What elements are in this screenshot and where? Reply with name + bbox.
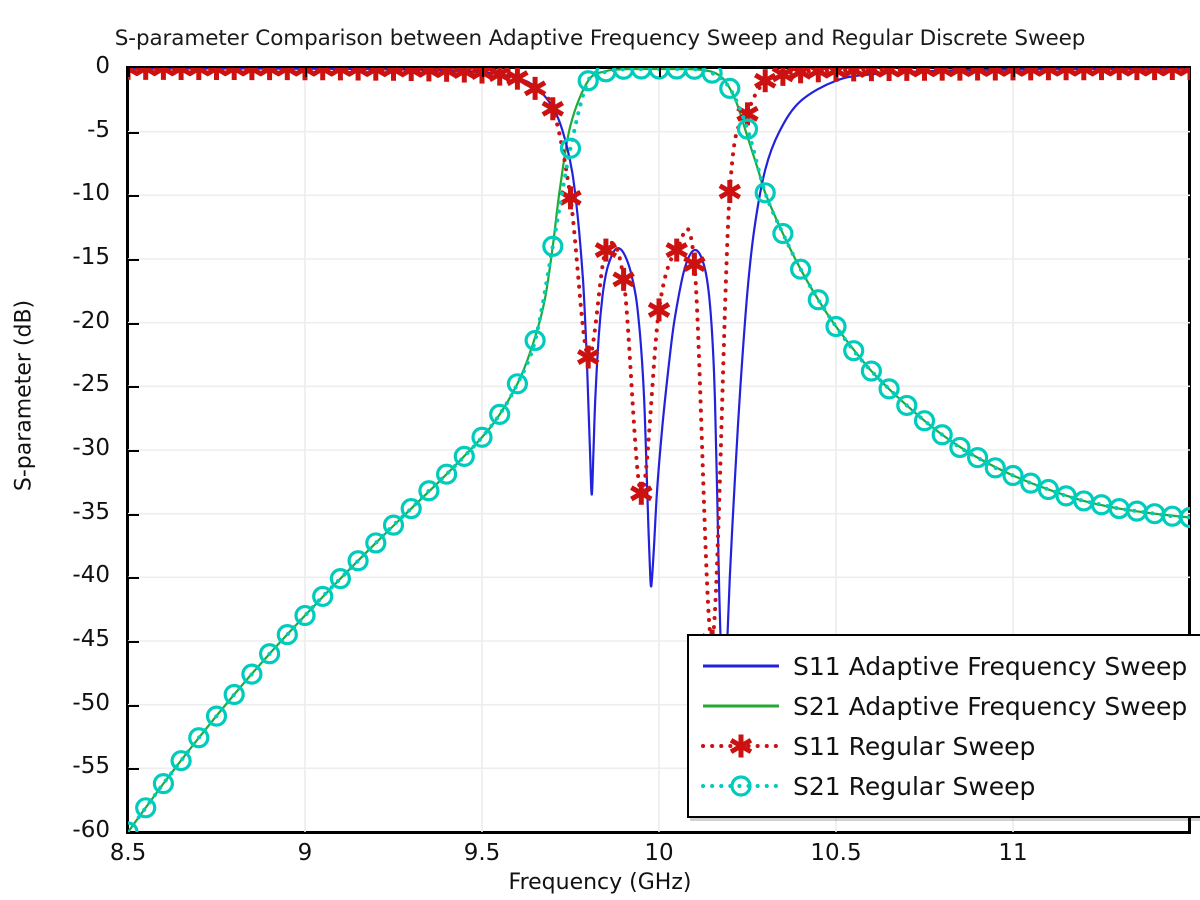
legend-swatch-s11_adaptive (701, 652, 781, 680)
y-tick-mark (128, 705, 139, 707)
y-tick-label: -40 (0, 562, 110, 588)
data-point-marker (171, 68, 191, 80)
y-tick-mark (128, 259, 139, 261)
legend: S11 Adaptive Frequency SweepS21 Adaptive… (687, 634, 1200, 818)
x-tick-label: 9 (245, 840, 365, 866)
y-tick-mark (128, 132, 139, 134)
data-point-marker (773, 68, 793, 86)
data-point-marker (808, 68, 828, 82)
data-point-marker (1145, 68, 1165, 80)
data-point-marker (791, 68, 811, 83)
y-tick-label: -50 (0, 690, 110, 716)
data-point-marker (242, 68, 262, 80)
data-point-marker (490, 68, 510, 86)
x-tick-label: 8.5 (68, 840, 188, 866)
data-point-marker (189, 68, 209, 80)
data-point-marker (543, 97, 563, 120)
x-tick-mark (305, 66, 307, 77)
legend-item-s11_regular[interactable]: S11 Regular Sweep (701, 726, 1187, 766)
legend-swatch-s11_regular (701, 732, 781, 760)
data-point-marker (525, 77, 545, 100)
y-tick-mark (128, 577, 139, 579)
data-point-marker (1162, 68, 1182, 80)
x-axis-label: Frequency (GHz) (0, 870, 1200, 895)
x-tick-mark (659, 66, 661, 77)
data-point-marker (649, 298, 669, 321)
x-tick-mark (836, 66, 838, 77)
data-point-marker (507, 68, 527, 90)
data-point-marker (153, 68, 173, 80)
data-point-marker (755, 69, 775, 92)
chart-title: S-parameter Comparison between Adaptive … (0, 26, 1200, 51)
x-tick-label: 10 (599, 840, 719, 866)
chart-root: S-parameter Comparison between Adaptive … (0, 0, 1200, 900)
y-tick-label: -35 (0, 499, 110, 525)
data-point-marker (260, 68, 280, 80)
legend-swatch-s21_regular (701, 772, 781, 800)
y-tick-mark (128, 386, 139, 388)
y-tick-label: -25 (0, 371, 110, 397)
data-point-marker (1109, 68, 1129, 80)
y-tick-mark (128, 195, 139, 197)
legend-label: S11 Adaptive Frequency Sweep (793, 652, 1187, 681)
y-tick-label: 0 (0, 53, 110, 79)
y-tick-mark (128, 641, 139, 643)
legend-label: S11 Regular Sweep (793, 732, 1035, 761)
x-tick-mark (482, 66, 484, 77)
y-tick-mark (128, 768, 139, 770)
y-tick-mark (128, 514, 139, 516)
y-tick-label: -55 (0, 753, 110, 779)
y-tick-mark (128, 323, 139, 325)
data-point-marker (224, 68, 244, 80)
y-tick-label: -45 (0, 626, 110, 652)
y-tick-label: -30 (0, 435, 110, 461)
y-tick-label: -10 (0, 180, 110, 206)
x-tick-mark (128, 66, 130, 77)
y-tick-mark (128, 450, 139, 452)
x-tick-label: 9.5 (422, 840, 542, 866)
y-tick-label: -15 (0, 244, 110, 270)
data-point-marker (277, 68, 297, 80)
legend-item-s21_adaptive[interactable]: S21 Adaptive Frequency Sweep (701, 686, 1187, 726)
x-tick-mark (1013, 66, 1015, 77)
y-tick-label: -20 (0, 308, 110, 334)
data-point-marker (136, 68, 156, 80)
data-point-marker (720, 180, 740, 203)
data-point-marker (1092, 68, 1112, 80)
legend-label: S21 Regular Sweep (793, 772, 1035, 801)
x-tick-label: 10.5 (776, 840, 896, 866)
y-tick-label: -5 (0, 117, 110, 143)
x-tick-label: 11 (953, 840, 1073, 866)
data-point-marker (207, 68, 227, 80)
legend-swatch-s21_adaptive (701, 692, 781, 720)
legend-item-s21_regular[interactable]: S21 Regular Sweep (701, 766, 1187, 806)
data-point-marker (578, 346, 598, 369)
legend-label: S21 Adaptive Frequency Sweep (793, 692, 1187, 721)
legend-item-s11_adaptive[interactable]: S11 Adaptive Frequency Sweep (701, 646, 1187, 686)
data-point-marker (1127, 68, 1147, 80)
